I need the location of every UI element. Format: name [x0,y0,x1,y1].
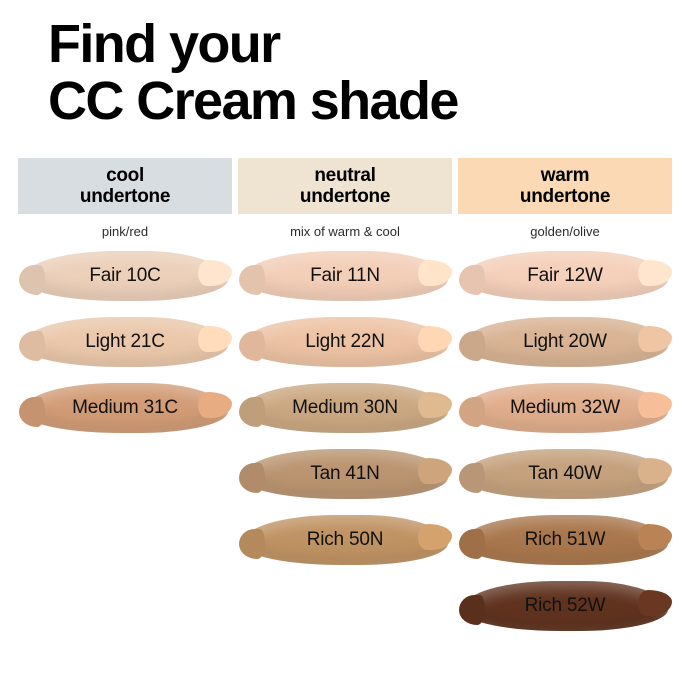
shade-swatch[interactable]: Medium 30N [238,377,452,439]
shade-swatch[interactable]: Rich 50N [238,509,452,571]
column-header-line-2: undertone [520,186,610,207]
shade-swatch[interactable]: Rich 51W [458,509,672,571]
shade-swatch[interactable]: Fair 10C [18,245,232,307]
shade-name-label: Rich 51W [525,529,606,551]
shade-name-label: Tan 41N [310,463,379,485]
shade-name-label: Light 22N [305,331,385,353]
shade-name-label: Rich 52W [525,595,606,617]
shade-swatch[interactable]: Tan 41N [238,443,452,505]
column-header-line-2: undertone [80,186,170,207]
shade-swatch[interactable]: Fair 12W [458,245,672,307]
shade-name-label: Light 21C [85,331,165,353]
swatch-list-warm: Fair 12WLight 20WMedium 32WTan 40WRich 5… [458,245,672,641]
column-header-line-2: undertone [300,186,390,207]
column-header-line-1: neutral [314,165,375,186]
shade-swatch[interactable]: Rich 52W [458,575,672,637]
title-line-2: CC Cream shade [48,73,668,130]
column-header-line-1: cool [106,165,144,186]
column-cool: coolundertonepink/redFair 10CLight 21CMe… [18,158,232,641]
shade-name-label: Fair 12W [527,265,602,287]
column-neutral: neutralundertonemix of warm & coolFair 1… [238,158,452,641]
shade-name-label: Rich 50N [307,529,384,551]
shade-name-label: Fair 11N [310,265,380,287]
shade-name-label: Medium 32W [510,397,620,419]
column-header-warm: warmundertone [458,158,672,214]
shade-swatch[interactable]: Light 21C [18,311,232,373]
column-header-neutral: neutralundertone [238,158,452,214]
column-subtitle-neutral: mix of warm & cool [238,214,452,245]
column-header-line-1: warm [541,165,589,186]
column-warm: warmundertonegolden/oliveFair 12WLight 2… [458,158,672,641]
swatch-list-neutral: Fair 11NLight 22NMedium 30NTan 41NRich 5… [238,245,452,575]
shade-name-label: Tan 40W [528,463,602,485]
shade-name-label: Light 20W [523,331,607,353]
shade-swatch[interactable]: Medium 31C [18,377,232,439]
shade-swatch[interactable]: Fair 11N [238,245,452,307]
page-title: Find your CC Cream shade [48,16,668,130]
swatch-list-cool: Fair 10CLight 21CMedium 31C [18,245,232,443]
column-subtitle-warm: golden/olive [458,214,672,245]
shade-swatch[interactable]: Tan 40W [458,443,672,505]
shade-columns: coolundertonepink/redFair 10CLight 21CMe… [0,158,679,641]
shade-name-label: Medium 31C [72,397,178,419]
column-header-cool: coolundertone [18,158,232,214]
shade-swatch[interactable]: Medium 32W [458,377,672,439]
title-line-1: Find your [48,16,668,73]
shade-swatch[interactable]: Light 22N [238,311,452,373]
shade-name-label: Medium 30N [292,397,398,419]
shade-name-label: Fair 10C [89,265,160,287]
column-subtitle-cool: pink/red [18,214,232,245]
shade-swatch[interactable]: Light 20W [458,311,672,373]
